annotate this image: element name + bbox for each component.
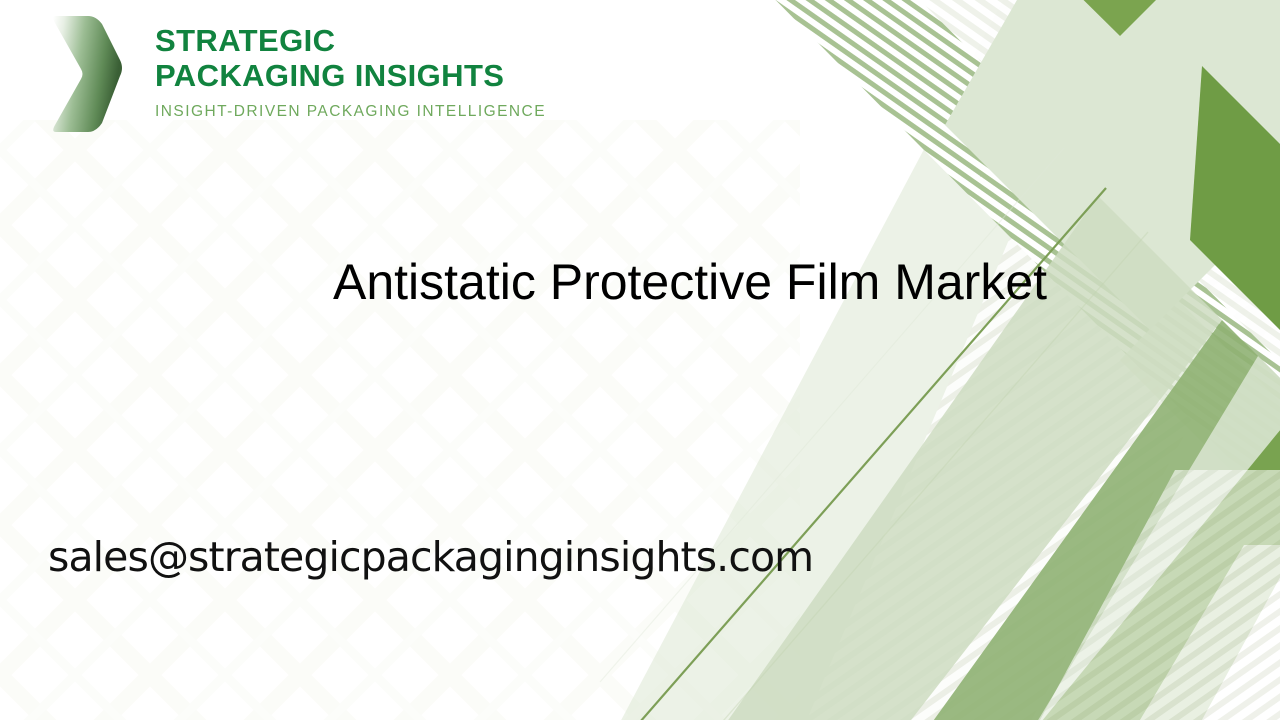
company-logo: STRATEGIC PACKAGING INSIGHTS INSIGHT-DRI… [52,12,546,135]
logo-tagline: INSIGHT-DRIVEN PACKAGING INTELLIGENCE [155,102,546,121]
corner-pale-stripes [1040,470,1280,720]
logo-name-line-1: STRATEGIC [155,23,546,58]
logo-name-line-2: PACKAGING INSIGHTS [155,58,546,93]
contact-email: sales@strategicpackaginginsights.com [48,531,813,583]
slide-title: Antistatic Protective Film Market [240,256,1140,308]
presentation-slide: STRATEGIC PACKAGING INSIGHTS INSIGHT-DRI… [0,0,1280,720]
diagonal-bands-ne-sw [600,0,1280,720]
chevron-mark-icon [52,13,124,135]
secondary-hairlines [600,148,1148,720]
watermark-lattice [0,120,800,720]
logo-wordmark: STRATEGIC PACKAGING INSIGHTS INSIGHT-DRI… [155,23,546,121]
